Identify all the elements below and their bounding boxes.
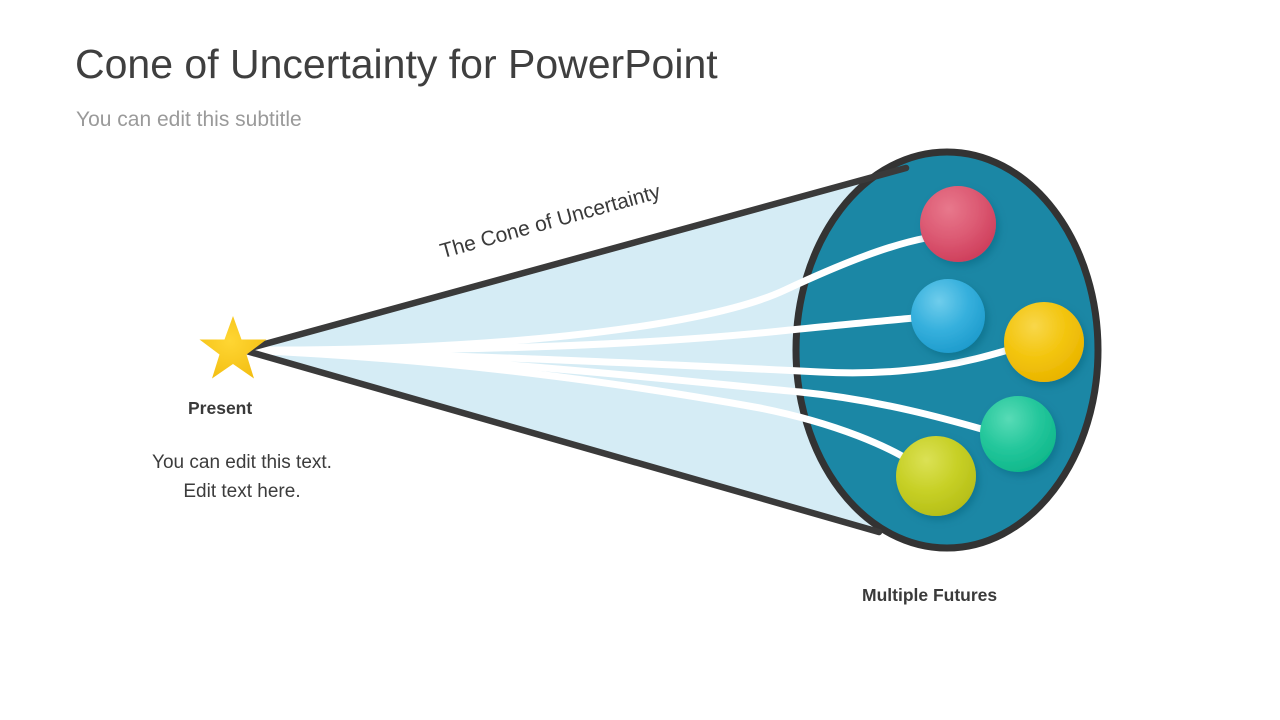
- sphere-blue[interactable]: [911, 279, 985, 353]
- multiple-futures-label: Multiple Futures: [862, 585, 997, 606]
- cone-of-uncertainty-diagram: The Cone of Uncertainty: [0, 0, 1280, 720]
- body-text-line-1: You can edit this text.: [152, 452, 332, 473]
- sphere-gold[interactable]: [1004, 302, 1084, 382]
- sphere-crimson[interactable]: [920, 186, 996, 262]
- body-text-line-2: Edit text here.: [122, 477, 362, 506]
- editable-body-text: You can edit this text. Edit text here.: [122, 448, 362, 507]
- sphere-olive[interactable]: [896, 436, 976, 516]
- slide-canvas: Cone of Uncertainty for PowerPoint You c…: [0, 0, 1280, 720]
- present-label: Present: [188, 398, 252, 419]
- sphere-green[interactable]: [980, 396, 1056, 472]
